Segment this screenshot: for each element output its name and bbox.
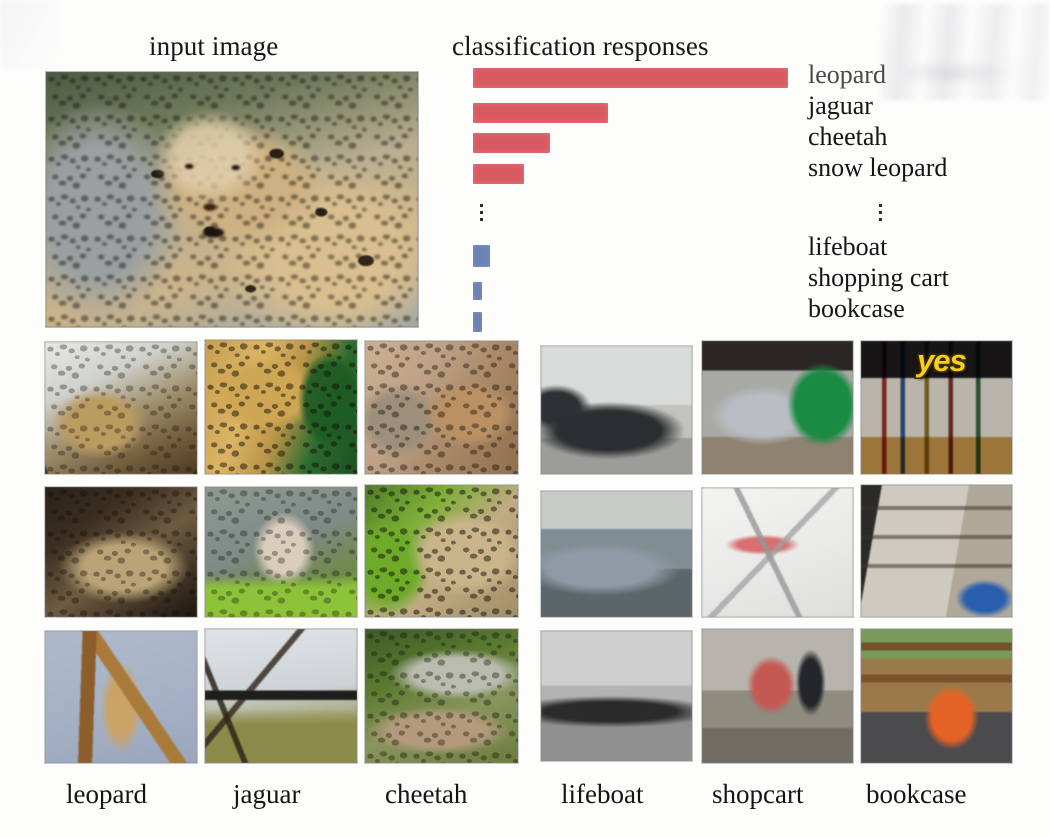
thumbnail-shopcart-r3c5 xyxy=(701,628,854,764)
class-label-leopard: leopard xyxy=(808,60,886,90)
bar-shopping-cart xyxy=(473,282,482,300)
column-label-leopard: leopard xyxy=(66,779,147,810)
bar-chart-ellipsis xyxy=(480,204,483,225)
thumbnail-cheetah-r1c3 xyxy=(364,340,519,475)
thumbnail-leopard-r1c1 xyxy=(44,341,198,475)
thumbnail-lifeboat-r1c4 xyxy=(540,345,693,475)
column-label-jaguar: jaguar xyxy=(233,779,300,810)
class-label-bookcase: bookcase xyxy=(808,294,905,324)
input-image-title: input image xyxy=(149,31,278,62)
leopard-photo-face-features xyxy=(46,72,418,327)
thumbnail-leopard-r2c1 xyxy=(44,486,198,618)
bar-cheetah xyxy=(473,133,550,153)
thumbnail-cheetah-r3c3 xyxy=(364,628,519,764)
column-label-bookcase: bookcase xyxy=(866,779,966,810)
column-label-lifeboat: lifeboat xyxy=(561,779,643,810)
class-label-shopping-cart: shopping cart xyxy=(808,263,949,293)
column-label-shopcart: shopcart xyxy=(712,779,803,810)
thumbnail-jaguar-r1c2 xyxy=(204,339,358,475)
thumbnail-shopcart-r2c5 xyxy=(701,487,854,618)
watermark-artifact-top-left xyxy=(0,0,60,70)
thumbnail-jaguar-r2c2 xyxy=(204,486,358,618)
class-label-ellipsis xyxy=(879,204,882,225)
thumbnail-lifeboat-r3c4 xyxy=(540,630,693,762)
thumbnail-lifeboat-r2c4 xyxy=(540,490,693,618)
yes-text-overlay: yes xyxy=(917,343,966,379)
class-label-cheetah: cheetah xyxy=(808,122,887,152)
bar-lifeboat xyxy=(473,245,490,267)
bar-leopard xyxy=(473,68,788,88)
bar-jaguar xyxy=(473,103,608,123)
figure-root: input image classification responses leo… xyxy=(0,0,1050,837)
bar-snow-leopard xyxy=(473,164,524,184)
watermark-artifact-top-right xyxy=(880,4,1050,100)
thumbnail-jaguar-r3c2 xyxy=(204,628,358,764)
thumbnail-leopard-r3c1 xyxy=(44,630,198,764)
thumbnail-shopcart-r1c5 xyxy=(701,340,854,475)
thumbnail-bookcase-r3c6 xyxy=(860,628,1013,764)
classification-bar-chart xyxy=(473,60,813,325)
thumbnail-cheetah-r2c3 xyxy=(364,484,519,618)
thumbnail-bookcase-r2c6 xyxy=(860,484,1013,618)
class-label-snow-leopard: snow leopard xyxy=(808,153,947,183)
bar-bookcase xyxy=(473,312,482,332)
input-image-photo xyxy=(45,71,419,328)
watermark-artifact-secondary xyxy=(905,58,1025,88)
column-label-cheetah: cheetah xyxy=(385,779,467,810)
class-label-jaguar: jaguar xyxy=(808,91,873,121)
classification-responses-title: classification responses xyxy=(452,31,709,62)
class-label-lifeboat: lifeboat xyxy=(808,232,887,262)
